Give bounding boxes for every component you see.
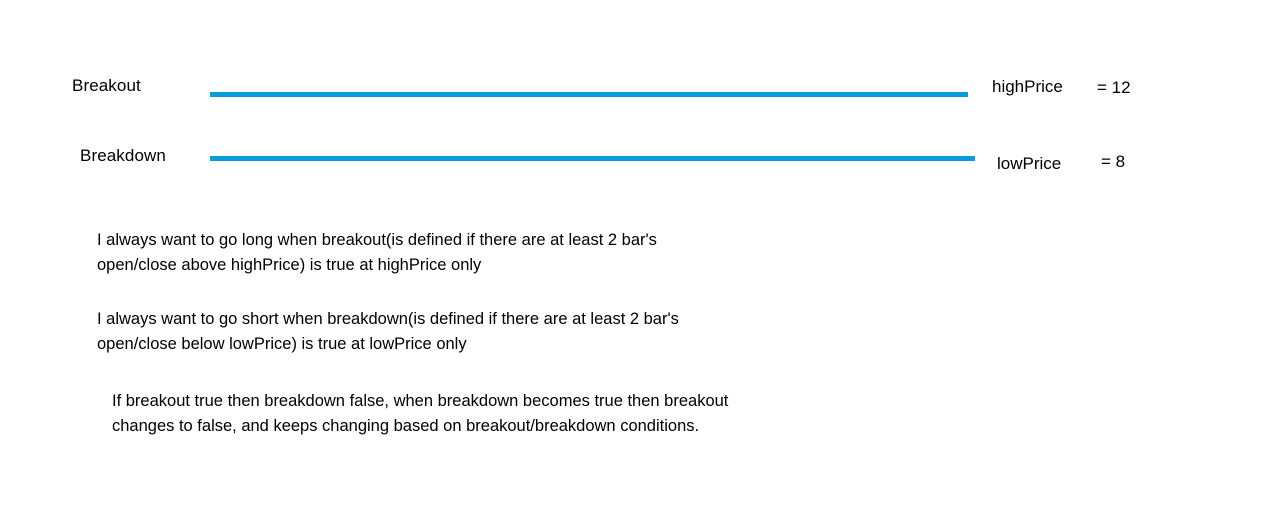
diagram-canvas: Breakout highPrice = 12 Breakdown lowPri… <box>0 0 1274 516</box>
breakout-row-label: Breakout <box>72 77 141 94</box>
low-price-label: lowPrice <box>997 155 1061 172</box>
breakdown-level-line <box>210 156 975 161</box>
note-go-long-rule: I always want to go long when breakout(i… <box>97 228 857 278</box>
breakout-level-line <box>210 92 968 97</box>
breakdown-row-label: Breakdown <box>80 147 166 164</box>
note-go-short-rule: I always want to go short when breakdown… <box>97 307 857 357</box>
note-toggle-rule: If breakout true then breakdown false, w… <box>112 389 892 439</box>
low-price-value: = 8 <box>1101 153 1125 170</box>
high-price-label: highPrice <box>992 78 1063 95</box>
high-price-value: = 12 <box>1097 79 1131 96</box>
